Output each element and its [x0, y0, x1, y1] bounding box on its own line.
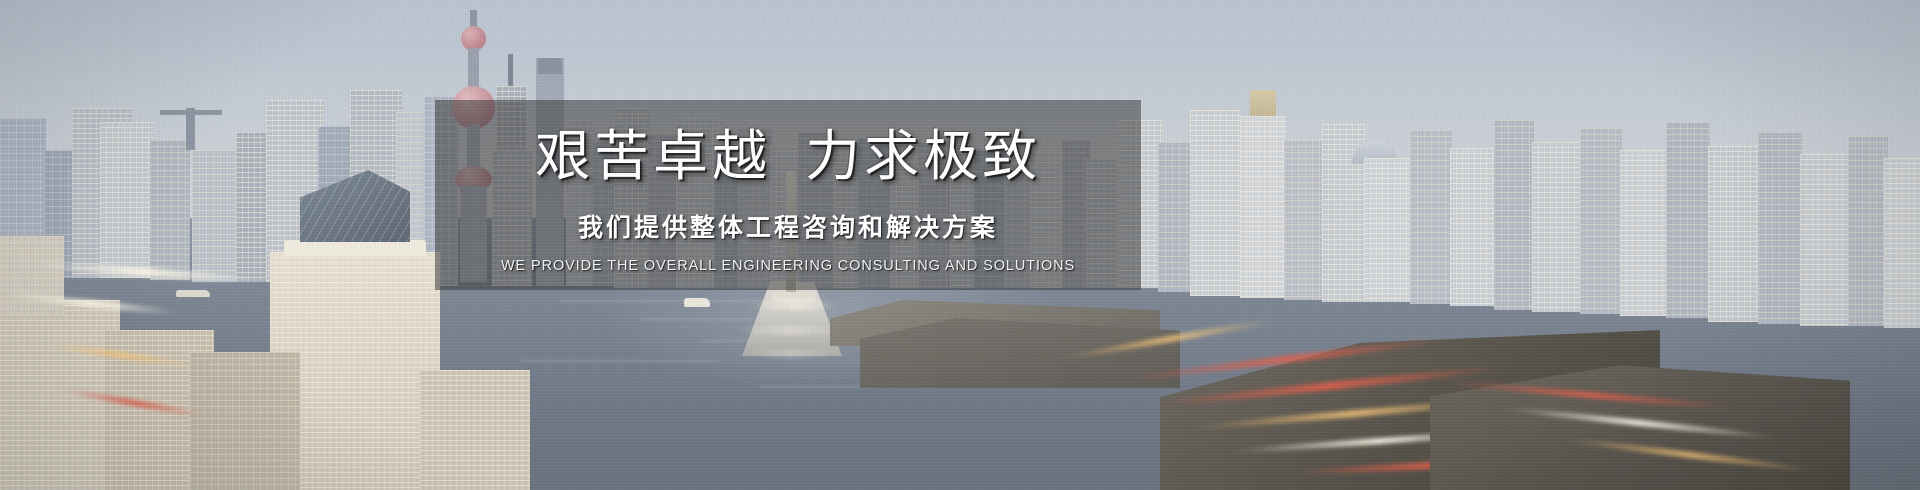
- building: [1708, 146, 1760, 322]
- ferry-boat: [684, 298, 710, 307]
- building: [1364, 158, 1412, 302]
- foreground-tower-crown: [284, 240, 426, 256]
- building: [1284, 140, 1324, 300]
- hero-banner: 艰苦卓越力求极致 我们提供整体工程咨询和解决方案 WE PROVIDE THE …: [0, 0, 1920, 490]
- jinmao-spire: [508, 54, 513, 90]
- building: [1884, 158, 1920, 328]
- crane-jib: [160, 110, 222, 115]
- building: [1494, 120, 1534, 310]
- building: [1848, 136, 1888, 326]
- building: [1190, 110, 1240, 296]
- plaza-light-pool: [748, 300, 840, 310]
- building: [1758, 132, 1802, 324]
- building: [150, 140, 190, 280]
- building: [1532, 142, 1582, 312]
- building: [1158, 142, 1194, 292]
- building: [1666, 122, 1710, 318]
- hero-overlay-panel: [435, 100, 1141, 290]
- building: [0, 236, 64, 316]
- building: [190, 352, 300, 490]
- building: [100, 122, 154, 278]
- water-streak: [520, 360, 720, 362]
- bund-heritage-building: [1240, 116, 1286, 298]
- building: [192, 150, 238, 282]
- building: [1800, 154, 1850, 326]
- barge: [176, 290, 210, 297]
- plaza-light-pool: [744, 350, 840, 358]
- building: [1620, 150, 1668, 316]
- building: [1450, 148, 1496, 306]
- building: [420, 370, 530, 490]
- swfc-aperture: [538, 58, 562, 74]
- building: [1410, 130, 1452, 304]
- plaza-light-pool: [736, 326, 846, 335]
- building: [1580, 128, 1622, 314]
